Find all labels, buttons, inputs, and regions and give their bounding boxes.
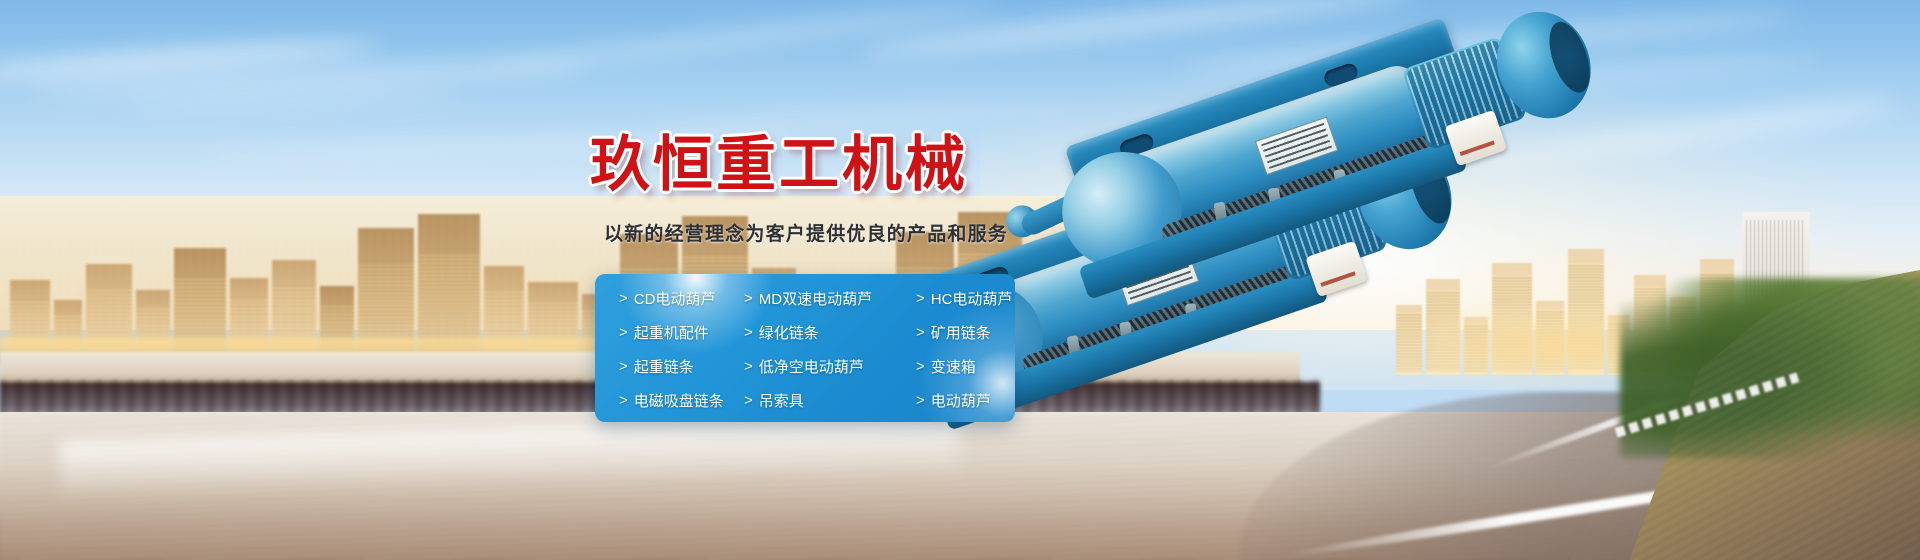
product-link-electric-hoist[interactable]: > 电动葫芦 — [916, 390, 991, 411]
chevron-right-icon: > — [619, 392, 628, 409]
product-links-grid: > CD电动葫芦 > MD双速电动葫芦 > HC电动葫芦 > 起重机配件 — [595, 274, 1015, 422]
product-links-row: > 起重机配件 > 绿化链条 > 矿用链条 — [595, 315, 1015, 349]
banner-title: 玖恒重工机械 — [590, 116, 968, 203]
product-link-mining-chain[interactable]: > 矿用链条 — [916, 322, 991, 343]
chevron-right-icon: > — [916, 324, 925, 341]
chevron-right-icon: > — [744, 358, 753, 375]
product-link-crane-parts[interactable]: > 起重机配件 — [619, 322, 744, 343]
hero-banner: 玖恒重工机械 以新的经营理念为客户提供优良的产品和服务 > CD电动葫芦 > M… — [0, 0, 1920, 560]
product-link-label: 起重链条 — [634, 356, 694, 377]
product-link-label: 吊索具 — [759, 390, 804, 411]
chevron-right-icon: > — [619, 290, 628, 307]
product-link-label: 低净空电动葫芦 — [759, 356, 864, 377]
chevron-right-icon: > — [916, 358, 925, 375]
product-link-label: 电磁吸盘链条 — [634, 390, 724, 411]
product-link-label: 绿化链条 — [759, 322, 819, 343]
product-link-low-headroom-hoist[interactable]: > 低净空电动葫芦 — [744, 356, 916, 377]
product-link-label: CD电动葫芦 — [634, 288, 716, 309]
product-link-label: HC电动葫芦 — [931, 288, 1013, 309]
product-link-label: 起重机配件 — [634, 322, 709, 343]
product-link-hc-hoist[interactable]: > HC电动葫芦 — [916, 288, 1012, 309]
product-link-label: 电动葫芦 — [931, 390, 991, 411]
chevron-right-icon: > — [916, 290, 925, 307]
product-link-label: 变速箱 — [931, 356, 976, 377]
chevron-right-icon: > — [619, 324, 628, 341]
banner-subtitle: 以新的经营理念为客户提供优良的产品和服务 — [604, 219, 1008, 246]
product-link-label: 矿用链条 — [931, 322, 991, 343]
product-link-gearbox[interactable]: > 变速箱 — [916, 356, 976, 377]
product-link-green-chain[interactable]: > 绿化链条 — [744, 322, 916, 343]
product-link-label: MD双速电动葫芦 — [759, 288, 872, 309]
chevron-right-icon: > — [619, 358, 628, 375]
product-links-row: > 电磁吸盘链条 > 吊索具 > 电动葫芦 — [595, 383, 1015, 417]
product-link-cd-hoist[interactable]: > CD电动葫芦 — [619, 288, 744, 309]
chevron-right-icon: > — [916, 392, 925, 409]
chevron-right-icon: > — [744, 324, 753, 341]
product-links-panel: > CD电动葫芦 > MD双速电动葫芦 > HC电动葫芦 > 起重机配件 — [595, 274, 1015, 422]
chevron-right-icon: > — [744, 290, 753, 307]
product-links-row: > CD电动葫芦 > MD双速电动葫芦 > HC电动葫芦 — [595, 281, 1015, 315]
product-link-lifting-slings[interactable]: > 吊索具 — [744, 390, 916, 411]
product-links-row: > 起重链条 > 低净空电动葫芦 > 变速箱 — [595, 349, 1015, 383]
product-link-magnetic-chuck-chain[interactable]: > 电磁吸盘链条 — [619, 390, 744, 411]
product-link-md-dual-speed-hoist[interactable]: > MD双速电动葫芦 — [744, 288, 916, 309]
product-link-lifting-chain[interactable]: > 起重链条 — [619, 356, 744, 377]
chevron-right-icon: > — [744, 392, 753, 409]
